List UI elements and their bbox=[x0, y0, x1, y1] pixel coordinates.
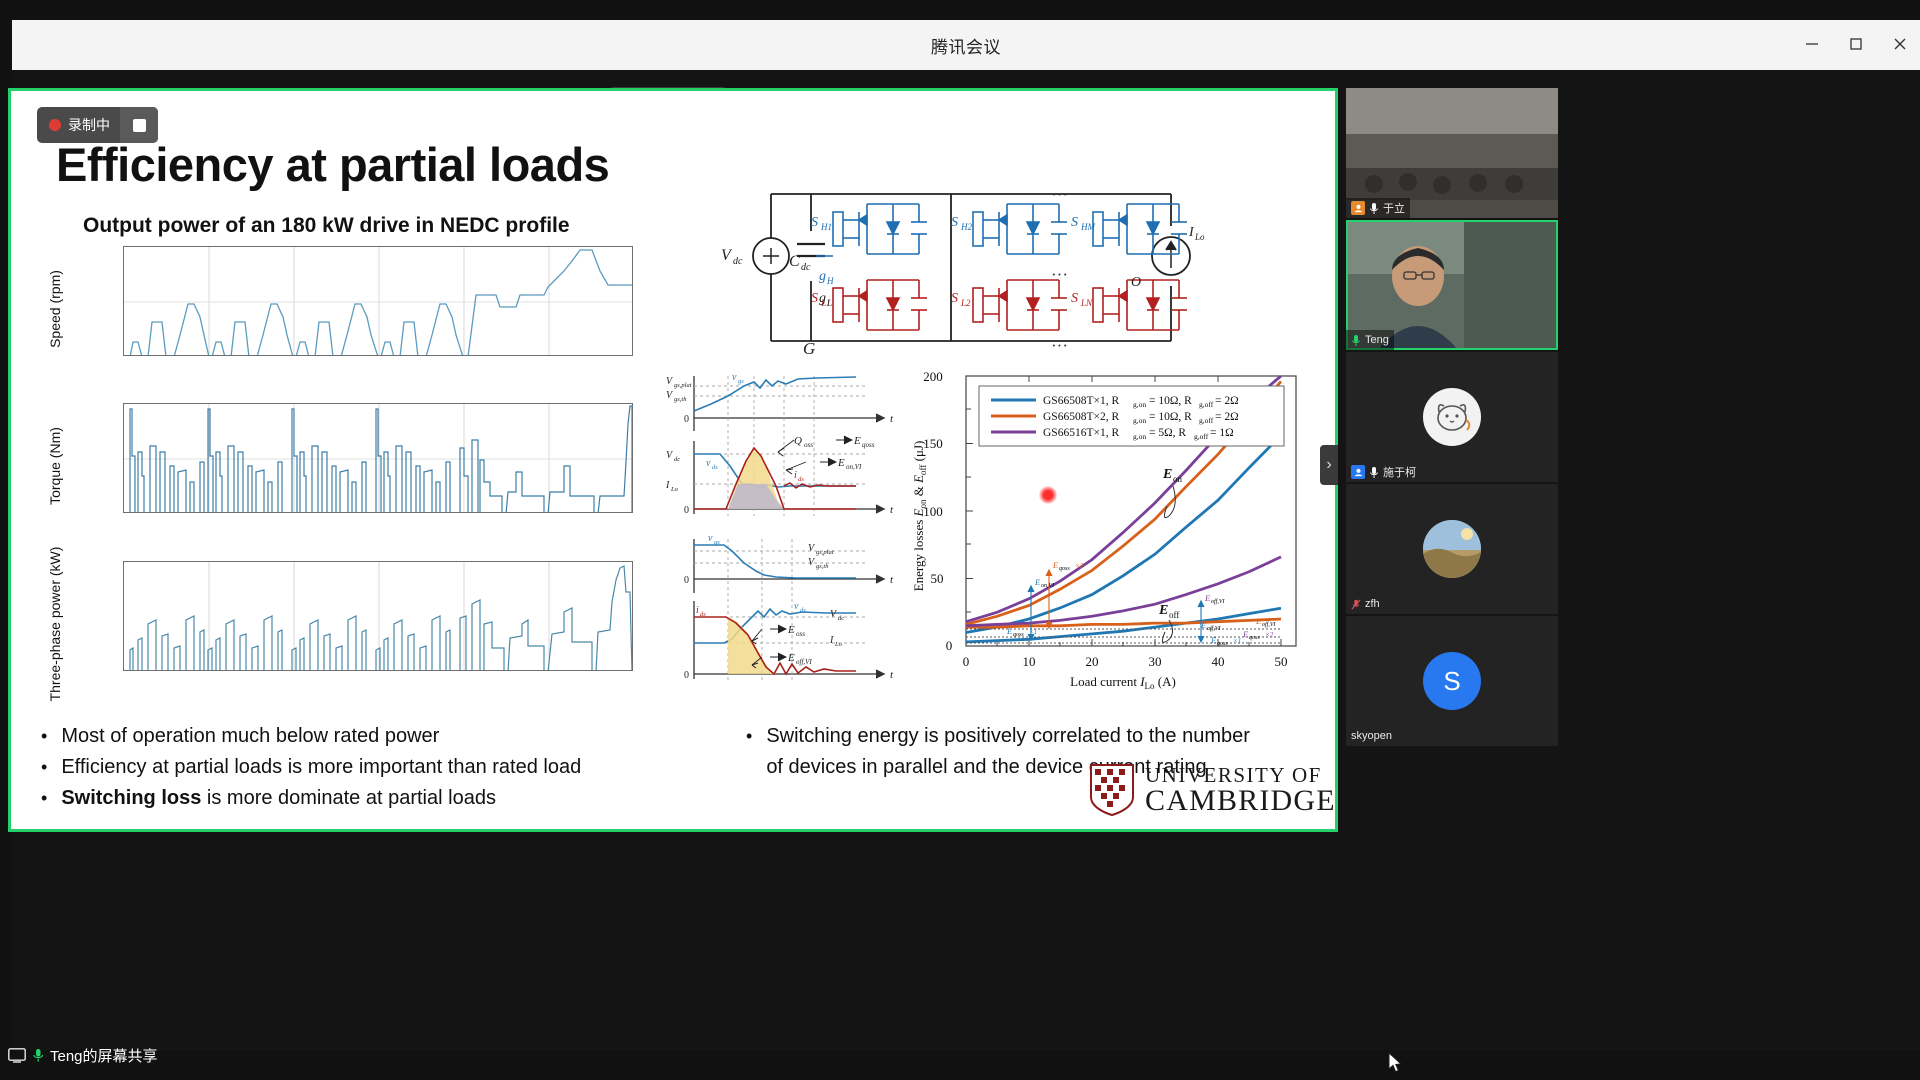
svg-text:GS66516T×1, R: GS66516T×1, R bbox=[1043, 427, 1119, 439]
bullet-text: Efficiency at partial loads is more impo… bbox=[61, 752, 581, 783]
svg-text:V: V bbox=[721, 247, 733, 264]
svg-text:S: S bbox=[811, 291, 818, 306]
svg-text:GS66508T×2, R: GS66508T×2, R bbox=[1043, 411, 1119, 423]
svg-text:Energy losses Eon & Eoff (μJ): Energy losses Eon & Eoff (μJ) bbox=[911, 441, 928, 592]
svg-text:off,VI: off,VI bbox=[796, 658, 812, 666]
mic-on-icon bbox=[1351, 334, 1361, 347]
participant-namebar: 施于柯 bbox=[1346, 462, 1421, 482]
svg-text:E: E bbox=[1200, 620, 1207, 630]
svg-text:v: v bbox=[708, 533, 713, 544]
svg-text:H2: H2 bbox=[960, 222, 972, 232]
svg-text:O: O bbox=[1131, 275, 1141, 290]
svg-text:V: V bbox=[666, 376, 674, 387]
svg-text:E: E bbox=[787, 624, 795, 636]
svg-text:E: E bbox=[1158, 603, 1168, 618]
participant-sidebar: 于立 Teng bbox=[1346, 88, 1558, 832]
chart-speed-plot: 10000 5000 0 0 200 400 600 800 1000 1200 bbox=[123, 246, 633, 356]
participant-name: Teng bbox=[1365, 334, 1389, 346]
svg-text:200: 200 bbox=[923, 369, 943, 384]
figure-inverter-circuit: Vdc Cdc G SH1 SH2 SHM gH SL1 SL2 SLN bbox=[711, 176, 1271, 361]
chart-torque-ylabel: Torque (Nm) bbox=[47, 427, 63, 505]
svg-text:50: 50 bbox=[1275, 654, 1288, 669]
svg-text:dc: dc bbox=[801, 262, 811, 273]
svg-text:E: E bbox=[1242, 629, 1249, 639]
chart-energy-losses: GS66508T×1, Rg,on = 10Ω, Rg,off= 2Ω GS66… bbox=[911, 366, 1311, 706]
svg-text:G: G bbox=[803, 339, 815, 358]
svg-text:i: i bbox=[794, 470, 797, 481]
svg-text:V: V bbox=[830, 609, 838, 620]
svg-text:g: g bbox=[819, 269, 826, 284]
mic-off-icon bbox=[1351, 598, 1361, 611]
mic-on-icon bbox=[1369, 202, 1379, 215]
mouse-cursor-icon bbox=[1388, 1052, 1404, 1074]
svg-text:ds: ds bbox=[798, 476, 804, 483]
title-bar: 腾讯会议 bbox=[12, 20, 1920, 70]
participant-name: 于立 bbox=[1383, 200, 1405, 216]
slide-title: Efficiency at partial loads bbox=[56, 137, 609, 192]
chart-torque: Torque (Nm) 100 50 0 bbox=[41, 403, 631, 528]
collapse-panel-button[interactable]: › bbox=[1320, 445, 1338, 485]
svg-text:E: E bbox=[1255, 616, 1262, 626]
svg-text:off,VI: off,VI bbox=[1211, 598, 1225, 605]
svg-text:150: 150 bbox=[923, 436, 943, 451]
bullet-text: is more dominate at partial loads bbox=[207, 787, 496, 809]
svg-text:S: S bbox=[811, 215, 818, 230]
svg-text:= 10Ω, R: = 10Ω, R bbox=[1149, 395, 1192, 407]
participant-tile[interactable]: 施于柯 bbox=[1346, 352, 1558, 482]
bullet-item: • Switching loss is more dominate at par… bbox=[41, 783, 711, 814]
svg-text:×2: ×2 bbox=[1265, 631, 1274, 639]
avatar bbox=[1423, 388, 1481, 446]
bullet-dot-icon: • bbox=[41, 789, 47, 807]
svg-text:40: 40 bbox=[1212, 654, 1225, 669]
chart-power-ylabel: Three-phase power (kW) bbox=[47, 546, 63, 701]
bullet-dot-icon: • bbox=[746, 727, 752, 745]
svg-text:0: 0 bbox=[684, 670, 689, 681]
svg-text:t: t bbox=[890, 574, 894, 586]
recording-dot-icon bbox=[49, 119, 61, 131]
landscape-photo-avatar bbox=[1423, 520, 1481, 578]
svg-text:g,on: g,on bbox=[1133, 432, 1146, 441]
svg-text:i: i bbox=[696, 605, 699, 616]
svg-text:dc: dc bbox=[733, 256, 743, 267]
svg-text:E: E bbox=[1006, 626, 1013, 636]
svg-text:v: v bbox=[732, 372, 737, 383]
svg-text:S: S bbox=[951, 291, 958, 306]
svg-text:qoss: qoss bbox=[1013, 632, 1024, 638]
svg-text:dc: dc bbox=[674, 456, 680, 463]
svg-text:v: v bbox=[794, 601, 799, 612]
svg-text:on,VI: on,VI bbox=[1041, 583, 1055, 589]
maximize-icon[interactable] bbox=[1848, 36, 1866, 54]
bullet-text: Most of operation much below rated power bbox=[61, 721, 439, 752]
participant-namebar: zfh bbox=[1346, 594, 1385, 614]
svg-text:Lo: Lo bbox=[834, 641, 843, 648]
bullet-text-line1: Switching energy is positively correlate… bbox=[766, 725, 1250, 747]
logo-text: UNIVERSITY OF CAMBRIDGE bbox=[1145, 765, 1336, 816]
bullet-dot-icon: • bbox=[41, 727, 47, 745]
svg-text:×1: ×1 bbox=[1233, 637, 1241, 645]
svg-text:S: S bbox=[1071, 215, 1078, 230]
svg-text:t: t bbox=[890, 413, 894, 425]
svg-text:E: E bbox=[1162, 467, 1172, 482]
svg-text:HM: HM bbox=[1080, 222, 1095, 232]
chart-speed: Speed (rpm) 10000 5000 0 0 2 bbox=[41, 246, 631, 371]
svg-text:t: t bbox=[890, 504, 894, 516]
bullet-text-wrap: Switching loss is more dominate at parti… bbox=[61, 783, 496, 814]
svg-text:oss: oss bbox=[796, 630, 805, 638]
bullet-text-bold: Switching loss bbox=[61, 787, 201, 809]
svg-text:LN: LN bbox=[1080, 298, 1093, 308]
svg-text:V: V bbox=[666, 450, 674, 461]
svg-text:V: V bbox=[808, 543, 816, 554]
close-icon[interactable] bbox=[1892, 36, 1910, 54]
svg-text:C: C bbox=[789, 253, 800, 270]
participant-tile[interactable]: Teng bbox=[1346, 220, 1558, 350]
svg-text:30: 30 bbox=[1149, 654, 1162, 669]
screen-share-icon bbox=[8, 1048, 26, 1063]
svg-text:gs,th: gs,th bbox=[816, 563, 828, 570]
participant-namebar: 于立 bbox=[1346, 198, 1410, 218]
participant-namebar: skyopen bbox=[1346, 726, 1397, 746]
svg-text:ds: ds bbox=[800, 607, 806, 614]
svg-text:20: 20 bbox=[1086, 654, 1099, 669]
svg-text:v: v bbox=[706, 458, 711, 469]
svg-text:gs: gs bbox=[714, 539, 720, 546]
svg-text:gs,plat: gs,plat bbox=[674, 382, 692, 389]
svg-text:= 2Ω: = 2Ω bbox=[1215, 395, 1239, 407]
host-badge-icon bbox=[1351, 465, 1365, 479]
bullets-left: • Most of operation much below rated pow… bbox=[41, 721, 711, 814]
logo-line-2: CAMBRIDGE bbox=[1145, 786, 1336, 816]
bullet-item: • Most of operation much below rated pow… bbox=[41, 721, 711, 752]
svg-text:g,off: g,off bbox=[1199, 416, 1214, 425]
svg-text:qoss: qoss bbox=[1059, 566, 1070, 572]
bullet-item: • Efficiency at partial loads is more im… bbox=[41, 752, 711, 783]
recording-label: 录制中 bbox=[68, 115, 110, 135]
svg-text:0: 0 bbox=[684, 575, 689, 586]
chevron-right-icon: › bbox=[1326, 456, 1331, 474]
host-badge-icon bbox=[1351, 201, 1365, 215]
svg-text:0: 0 bbox=[684, 414, 689, 425]
participant-tile[interactable]: zfh bbox=[1346, 484, 1558, 614]
svg-text:Lo: Lo bbox=[1194, 232, 1205, 242]
logo-line-1: UNIVERSITY OF bbox=[1145, 765, 1336, 786]
chart-power-plot: 40 20 0 0 200 400 600 800 1000 1200 bbox=[123, 561, 633, 671]
svg-text:H1: H1 bbox=[820, 222, 832, 232]
svg-text:E: E bbox=[1204, 593, 1211, 603]
chart-torque-plot: 100 50 0 0 200 400 600 800 1000 1200 bbox=[123, 403, 633, 513]
svg-text:0: 0 bbox=[963, 654, 970, 669]
svg-text:50: 50 bbox=[931, 571, 944, 586]
svg-text:GS66508T×1, R: GS66508T×1, R bbox=[1043, 395, 1119, 407]
svg-text:Lo: Lo bbox=[670, 486, 679, 493]
svg-text:off,VI: off,VI bbox=[1207, 625, 1221, 632]
participant-tile[interactable]: S skyopen bbox=[1346, 616, 1558, 746]
svg-text:S: S bbox=[1071, 291, 1078, 306]
avatar bbox=[1423, 520, 1481, 578]
svg-text:oss: oss bbox=[804, 441, 813, 449]
tencent-meeting-window: 腾讯会议 会议号 499 390 298 录制中 bbox=[0, 0, 1920, 1080]
svg-text:E: E bbox=[837, 457, 845, 469]
svg-text:10: 10 bbox=[1023, 654, 1036, 669]
svg-text:gs: gs bbox=[738, 378, 744, 385]
svg-text:E: E bbox=[1034, 577, 1041, 587]
svg-text:qoss: qoss bbox=[862, 441, 875, 449]
minimize-icon[interactable] bbox=[1804, 36, 1822, 54]
mouse-click-marker bbox=[1039, 486, 1057, 504]
svg-text:g,off: g,off bbox=[1194, 432, 1209, 441]
participant-name: 施于柯 bbox=[1383, 464, 1416, 480]
svg-text:on: on bbox=[1173, 474, 1183, 484]
shared-screen-frame: 录制中 Efficiency at partial loads Output p… bbox=[8, 88, 1338, 832]
svg-text:I: I bbox=[1188, 225, 1195, 240]
svg-text:off,VI: off,VI bbox=[1262, 621, 1276, 628]
svg-text:E: E bbox=[1052, 560, 1059, 570]
participant-name: zfh bbox=[1365, 598, 1380, 610]
svg-text:Q: Q bbox=[794, 435, 802, 447]
svg-text:= 1Ω: = 1Ω bbox=[1210, 427, 1234, 439]
share-status-label: Teng的屏幕共享 bbox=[50, 1045, 158, 1066]
cat-doodle-icon bbox=[1431, 398, 1473, 436]
svg-text:g,off: g,off bbox=[1199, 400, 1214, 409]
svg-text:E: E bbox=[853, 435, 861, 447]
svg-text:qoss: qoss bbox=[1217, 641, 1228, 647]
svg-text:I: I bbox=[829, 635, 834, 646]
svg-text:S: S bbox=[951, 215, 958, 230]
svg-text:0: 0 bbox=[684, 505, 689, 516]
mic-on-icon bbox=[1369, 466, 1379, 479]
left-charts-caption: Output power of an 180 kW drive in NEDC … bbox=[83, 214, 570, 238]
svg-text:Load current ILo (A): Load current ILo (A) bbox=[1070, 674, 1176, 691]
svg-text:E: E bbox=[1210, 635, 1217, 645]
participant-tile[interactable]: 于立 bbox=[1346, 88, 1558, 218]
svg-text:= 10Ω, R: = 10Ω, R bbox=[1149, 411, 1192, 423]
cambridge-shield-icon bbox=[1089, 763, 1135, 817]
svg-text:on,VI: on,VI bbox=[846, 463, 862, 471]
figure-turn-off-waveform: vgs Vgs,plat Vgs,th ids vds Vdc ILo Eoss… bbox=[666, 531, 916, 691]
svg-text:L2: L2 bbox=[960, 298, 971, 308]
participant-namebar: Teng bbox=[1346, 330, 1394, 350]
chart-speed-ylabel: Speed (rpm) bbox=[47, 270, 63, 348]
svg-text:ds: ds bbox=[712, 464, 718, 471]
svg-text:V: V bbox=[808, 557, 816, 568]
mic-on-icon bbox=[32, 1048, 44, 1063]
svg-text:L: L bbox=[826, 298, 832, 308]
svg-text:×2: ×2 bbox=[1075, 562, 1084, 570]
svg-text:···: ··· bbox=[1051, 185, 1068, 204]
svg-text:g: g bbox=[819, 291, 826, 306]
window-title: 腾讯会议 bbox=[931, 33, 1001, 58]
svg-text:gs,th: gs,th bbox=[674, 396, 686, 403]
svg-text:g,on: g,on bbox=[1133, 400, 1146, 409]
svg-text:0: 0 bbox=[946, 638, 953, 653]
svg-text:qoss: qoss bbox=[1249, 635, 1260, 641]
share-status-bar: Teng的屏幕共享 bbox=[8, 1040, 158, 1070]
svg-text:H: H bbox=[826, 276, 834, 286]
svg-text:= 2Ω: = 2Ω bbox=[1215, 411, 1239, 423]
svg-text:E: E bbox=[787, 652, 795, 664]
recording-label-wrap: 录制中 bbox=[37, 115, 120, 135]
participant-name: skyopen bbox=[1351, 730, 1392, 742]
svg-text:I: I bbox=[666, 480, 670, 491]
presentation-slide: 录制中 Efficiency at partial loads Output p… bbox=[11, 91, 1335, 829]
avatar-initial: S bbox=[1423, 652, 1481, 710]
svg-text:···: ··· bbox=[1051, 265, 1068, 284]
avatar-initial-letter: S bbox=[1443, 666, 1460, 697]
svg-text:V: V bbox=[666, 390, 674, 401]
svg-text:×1: ×1 bbox=[1029, 628, 1037, 636]
svg-text:t: t bbox=[890, 669, 894, 681]
svg-text:···: ··· bbox=[1051, 336, 1068, 355]
svg-text:ds: ds bbox=[700, 611, 706, 618]
svg-text:off: off bbox=[1169, 610, 1179, 620]
svg-text:gs,plat: gs,plat bbox=[816, 549, 834, 556]
chart-three-phase-power: Three-phase power (kW) 40 20 0 bbox=[41, 561, 631, 686]
svg-text:dc: dc bbox=[838, 615, 844, 622]
figure-turn-on-waveform: Vgs,plat Vgs,th vgs Vdc ILo vds ids Qoss… bbox=[666, 366, 916, 526]
svg-text:g,on: g,on bbox=[1133, 416, 1146, 425]
university-logo: UNIVERSITY OF CAMBRIDGE bbox=[1089, 763, 1336, 817]
svg-text:= 5Ω, R: = 5Ω, R bbox=[1149, 427, 1186, 439]
bullet-dot-icon: • bbox=[41, 758, 47, 776]
window-controls bbox=[1804, 20, 1910, 70]
